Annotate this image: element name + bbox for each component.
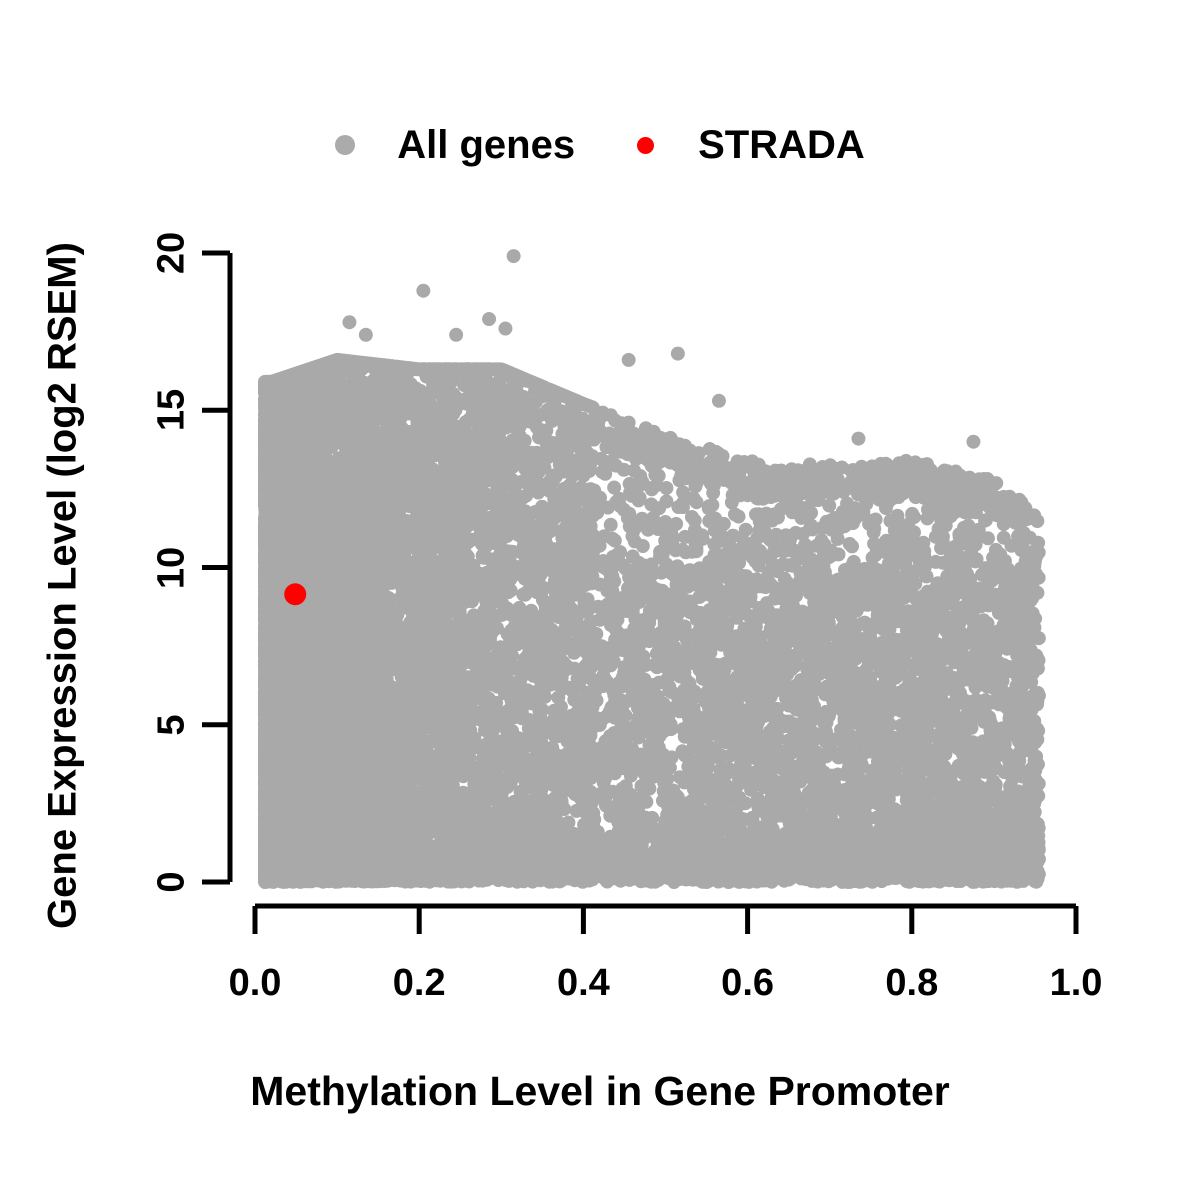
x-tick-label: 0.0 [229, 962, 282, 1005]
scatter-canvas [0, 0, 1200, 1200]
y-tick-label: 15 [151, 389, 194, 431]
x-axis-ticks [255, 906, 1076, 934]
y-tick-label: 10 [151, 546, 194, 588]
y-tick-label: 5 [151, 714, 194, 735]
y-tick-label: 20 [151, 232, 194, 274]
strada-highlight-point [284, 583, 306, 605]
highlight-point-layer [284, 583, 306, 605]
x-tick-label: 0.8 [885, 962, 938, 1005]
data-points-layer [258, 249, 1046, 889]
x-tick-label: 0.6 [721, 962, 774, 1005]
x-axis-title: Methylation Level in Gene Promoter [0, 1068, 1200, 1115]
y-tick-label: 0 [151, 871, 194, 892]
x-tick-label: 0.2 [393, 962, 446, 1005]
y-axis-ticks [202, 253, 230, 882]
all-genes-point-cloud [258, 249, 1046, 889]
x-tick-label: 0.4 [557, 962, 610, 1005]
y-axis-title: Gene Expression Level (log2 RSEM) [41, 166, 86, 1006]
scatter-plot-figure: All genes STRADA 0.00.20.40.60.81.0 0510… [0, 0, 1200, 1200]
x-tick-label: 1.0 [1050, 962, 1103, 1005]
